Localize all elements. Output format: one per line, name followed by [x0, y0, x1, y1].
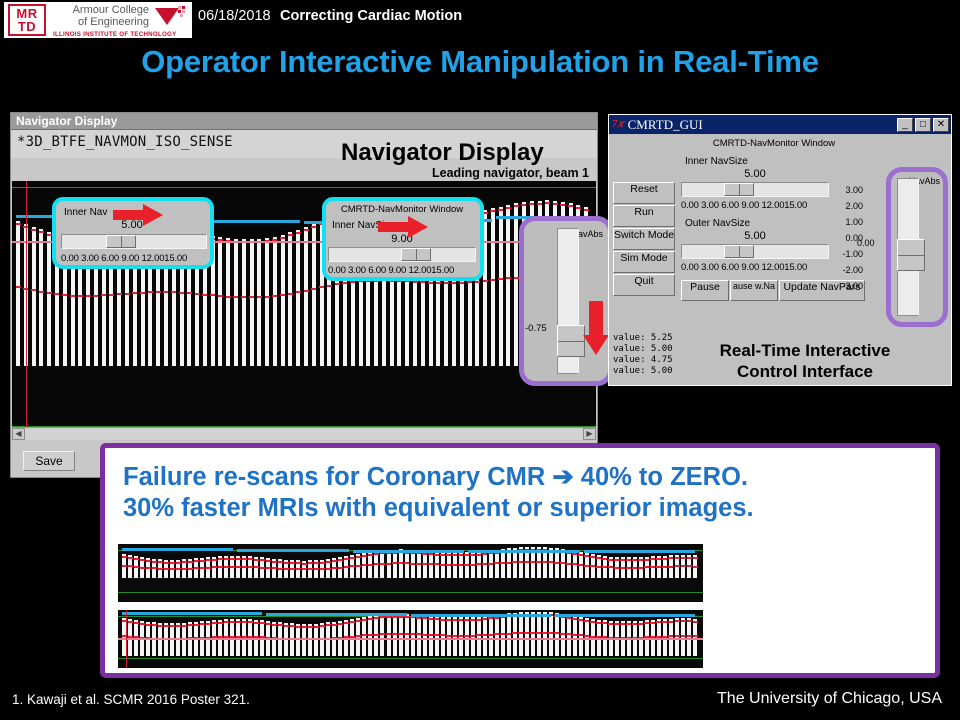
navabs-value-left: -0.75 [525, 323, 547, 334]
quit-button[interactable]: Quit [613, 274, 675, 296]
inner-navsize-slider-2[interactable] [328, 247, 476, 262]
navigator-strip-traces-top [118, 544, 703, 602]
realtime-caption-line2: Control Interface [660, 361, 950, 382]
close-button[interactable]: ✕ [933, 118, 949, 132]
gui-inner-navsize-value: 5.00 [681, 168, 829, 180]
slider-thumb[interactable] [557, 325, 585, 357]
pause-button[interactable]: Pause [681, 280, 729, 301]
red-right-arrow-icon [378, 215, 430, 239]
gui-outer-navsize-value: 5.00 [681, 230, 829, 242]
armour-triangle-icon [155, 6, 185, 26]
armour-college-logo: Armour College of Engineering ILLINOIS I… [53, 3, 189, 37]
slide-root: MR TD Armour College of Engineering ILLI… [0, 0, 960, 720]
axis-tick: -1.00 [831, 246, 863, 262]
navabs-vertical-slider-right[interactable] [897, 178, 919, 316]
result-line-1: Failure re-scans for Coronary CMR ➔ 40% … [105, 448, 935, 493]
callout-inner-navsize-before: Inner Nav 5.00 0.00 3.00 6.00 9.00 12.00… [52, 197, 214, 269]
axis-tick: 2.00 [831, 198, 863, 214]
gui-outer-navsize-ticks: 0.00 3.00 6.00 9.00 12.0015.00 [681, 262, 807, 273]
switch-mode-button[interactable]: Switch Mode [613, 228, 675, 250]
scroll-right-arrow-icon[interactable]: ▶ [583, 428, 596, 440]
slider-thumb[interactable] [724, 183, 754, 196]
page-title: Operator Interactive Manipulation in Rea… [0, 44, 960, 80]
pause-with-nav-button[interactable]: ause w.Na [730, 280, 778, 301]
maximize-button[interactable]: □ [915, 118, 931, 132]
callout-inner-navsize-after: CMRTD-NavMonitor Window Inner NavSize 9.… [322, 197, 484, 281]
navabs-value-right: 0.00 [857, 238, 875, 248]
cmrtd-gui-titlebar[interactable]: 7𝑥 CMRTD_GUI _ □ ✕ [609, 115, 951, 134]
gui-outer-navsize-label: Outer NavSize [685, 218, 750, 229]
navigator-window-titlebar: Navigator Display [11, 113, 597, 130]
iit-armour-logo: MR TD Armour College of Engineering ILLI… [4, 2, 192, 38]
inner-navsize-label-1: Inner Nav [64, 207, 107, 218]
result-line-2: 30% faster MRIs with equivalent or super… [105, 493, 935, 524]
reset-button[interactable]: Reset [613, 182, 675, 204]
footer-affiliation: The University of Chicago, USA [717, 690, 942, 708]
navigator-strip-top [118, 544, 703, 602]
navmonitor-panel-title-callout: CMRTD-NavMonitor Window [326, 204, 478, 215]
navmonitor-panel-title: CMRTD-NavMonitor Window [669, 138, 879, 149]
gui-inner-navsize-ticks: 0.00 3.00 6.00 9.00 12.0015.00 [681, 200, 807, 211]
axis-tick: 3.00 [831, 182, 863, 198]
institute-name: ILLINOIS INSTITUTE OF TECHNOLOGY [53, 31, 189, 38]
sim-mode-button[interactable]: Sim Mode [613, 251, 675, 273]
navigator-beam-label: Leading navigator, beam 1 [432, 166, 589, 180]
inner-navsize-ticks-1: 0.00 3.00 6.00 9.00 12.0015.00 [61, 253, 187, 264]
sequence-name-label: *3D_BTFE_NAVMON_ISO_SENSE [17, 134, 233, 150]
realtime-caption-line1: Real-Time Interactive [660, 340, 950, 361]
axis-tick: -3.00 [831, 278, 863, 294]
gui-inner-navsize-label: Inner NavSize [685, 156, 748, 167]
header-section-title: Correcting Cardiac Motion [280, 8, 462, 24]
header-date: 06/18/2018 [198, 8, 271, 24]
red-down-arrow-icon [582, 301, 610, 357]
key-result-callout: Failure re-scans for Coronary CMR ➔ 40% … [100, 443, 940, 678]
gui-inner-navsize-slider[interactable] [681, 182, 829, 197]
navabs-vertical-slider-left[interactable] [557, 228, 579, 374]
callout-navabs-right: NavAbs 0.00 [886, 167, 948, 327]
slider-thumb[interactable] [401, 248, 431, 261]
cmrtd-gui-title: CMRTD_GUI [624, 117, 895, 133]
axis-tick: 1.00 [831, 214, 863, 230]
navigator-strip-bottom [118, 610, 703, 668]
slider-thumb[interactable] [724, 245, 754, 258]
navigator-strip-traces-bottom [118, 610, 703, 668]
slider-thumb[interactable] [897, 239, 925, 271]
red-right-arrow-icon [113, 203, 165, 227]
inner-navsize-slider-1[interactable] [61, 234, 207, 249]
realtime-control-caption: Real-Time Interactive Control Interface [660, 340, 950, 382]
armour-logo-line1: Armour College [53, 5, 149, 17]
navigator-display-window: Navigator Display *3D_BTFE_NAVMON_ISO_SE… [10, 112, 598, 478]
callout-navabs-left: NavAbs -0.75 [519, 216, 613, 386]
run-button[interactable]: Run [613, 205, 675, 227]
inner-navsize-ticks-2: 0.00 3.00 6.00 9.00 12.0015.00 [328, 265, 454, 276]
gui-outer-navsize-slider[interactable] [681, 244, 829, 259]
navigator-horizontal-scrollbar[interactable]: ◀ ▶ [12, 427, 596, 440]
minimize-button[interactable]: _ [897, 118, 913, 132]
navigator-display-heading: Navigator Display [341, 139, 544, 167]
slider-thumb[interactable] [106, 235, 136, 248]
save-button[interactable]: Save [23, 451, 75, 471]
armour-logo-line2: of Engineering [53, 17, 149, 29]
axis-tick: -2.00 [831, 262, 863, 278]
mrtd-logo-mark: MR TD [8, 4, 46, 36]
footer-reference: 1. Kawaji et al. SCMR 2016 Poster 321. [12, 692, 250, 707]
app-icon: 7𝑥 [612, 118, 624, 131]
mrtd-logo-line2: TD [18, 20, 36, 33]
scroll-left-arrow-icon[interactable]: ◀ [12, 428, 25, 440]
